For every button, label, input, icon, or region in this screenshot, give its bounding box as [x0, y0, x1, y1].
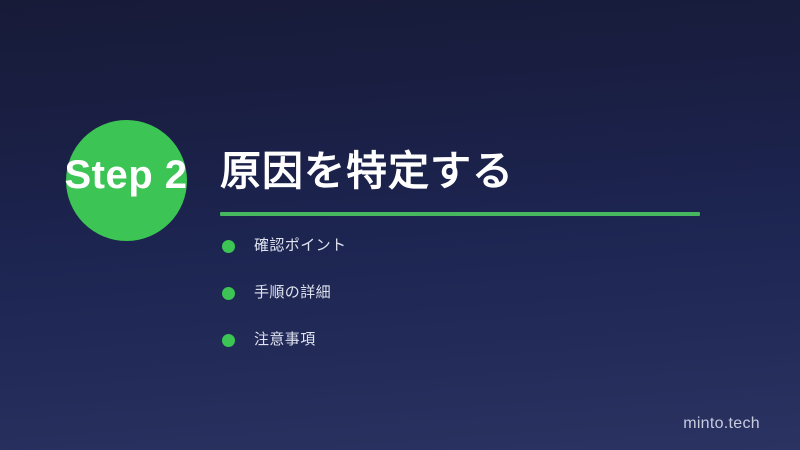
list-item-label: 注意事項 [254, 332, 316, 348]
step-badge-label: Step 2 [46, 152, 206, 198]
list-item: 手順の詳細 [222, 285, 346, 301]
list-item-label: 確認ポイント [254, 238, 346, 254]
title-divider [220, 212, 700, 216]
page-title: 原因を特定する [220, 143, 780, 199]
list-item: 確認ポイント [222, 238, 346, 254]
title-block: 原因を特定する [220, 143, 780, 216]
footer-brand: minto.tech [683, 415, 760, 433]
list-item-label: 手順の詳細 [254, 285, 331, 301]
dot-icon [222, 334, 235, 347]
dot-icon [222, 240, 235, 253]
list-item: 注意事項 [222, 332, 346, 348]
slide-canvas: Step 2 原因を特定する 確認ポイント 手順の詳細 注意事項 minto.t… [0, 0, 800, 450]
bullet-list: 確認ポイント 手順の詳細 注意事項 [222, 238, 346, 348]
dot-icon [222, 287, 235, 300]
